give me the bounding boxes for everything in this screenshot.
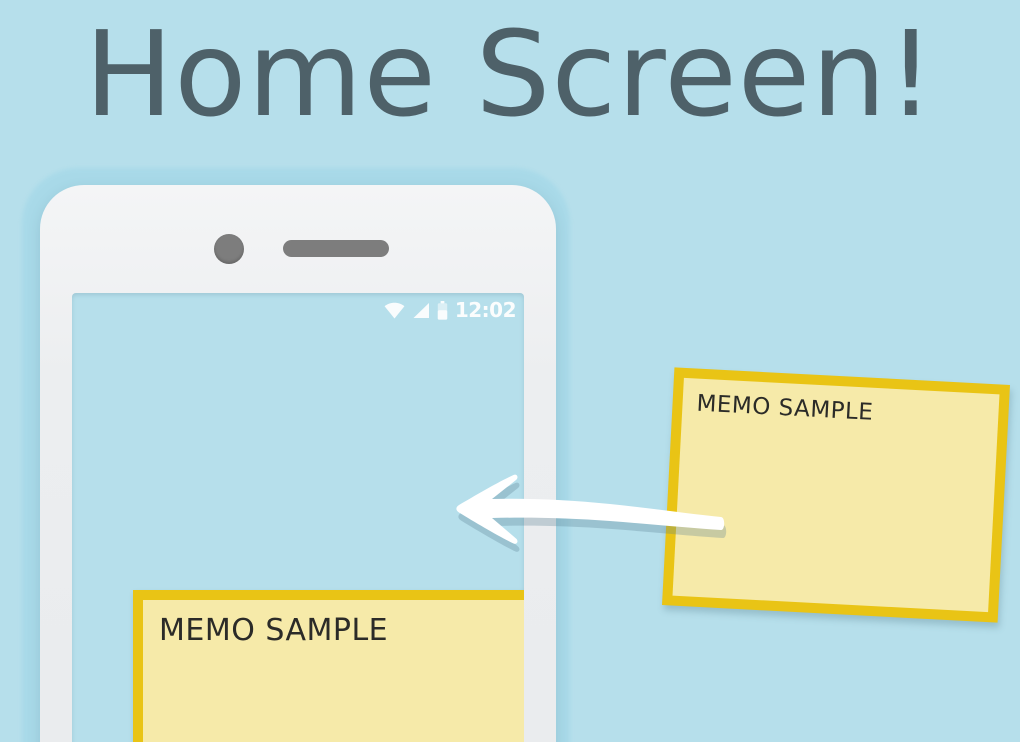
wifi-icon [384,302,405,319]
drag-left-arrow-icon [440,462,730,552]
page-title: Home Screen! [0,8,1020,140]
memo-text: MEMO SAMPLE [159,614,511,648]
status-bar: 12:02 [384,297,516,323]
status-bar-clock: 12:02 [455,299,516,321]
memo-paper: MEMO SAMPLE [143,600,524,742]
memo-widget-on-homescreen[interactable]: MEMO SAMPLE [133,590,524,742]
memo-text: MEMO SAMPLE [696,391,985,432]
cellular-signal-icon [412,302,430,319]
phone-top-hardware [40,231,556,271]
screenshot-stage: Home Screen! 12:02 [0,0,1020,742]
battery-icon [437,301,448,320]
front-camera-icon [214,234,244,264]
earpiece-speaker-icon [283,240,389,257]
